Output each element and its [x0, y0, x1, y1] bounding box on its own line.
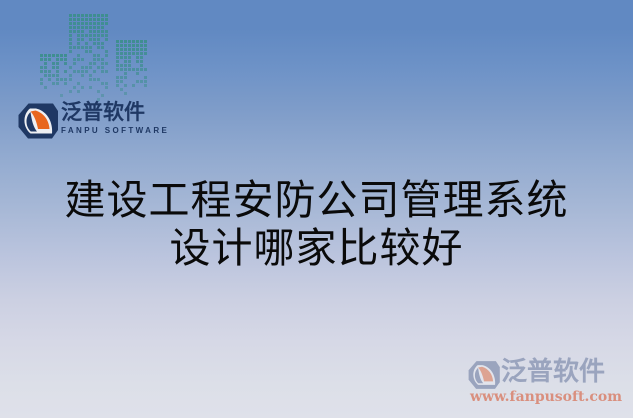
page-title: 建设工程安防公司管理系统 设计哪家比较好 — [0, 176, 633, 272]
page-title-line-1: 建设工程安防公司管理系统 — [0, 176, 633, 224]
page-title-line-2: 设计哪家比较好 — [0, 224, 633, 272]
watermark: 泛普软件 www.fanpusoft.com — [467, 356, 625, 410]
logo-chinese-name: 泛普软件 — [61, 100, 157, 125]
watermark-url: www.fanpusoft.com — [467, 388, 625, 406]
brand-logo[interactable]: 泛普软件 FANPU SOFTWARE — [17, 100, 157, 142]
fanpu-hexagon-swoosh-logo-icon — [17, 102, 59, 140]
fanpu-hexagon-swoosh-watermark-icon — [467, 360, 501, 390]
watermark-chinese-name: 泛普软件 — [501, 356, 605, 388]
promo-banner: 泛普软件 FANPU SOFTWARE 建设工程安防公司管理系统 设计哪家比较好… — [0, 0, 633, 418]
logo-english-name: FANPU SOFTWARE — [61, 125, 157, 136]
pixel-city-skyline-icon — [40, 8, 155, 100]
